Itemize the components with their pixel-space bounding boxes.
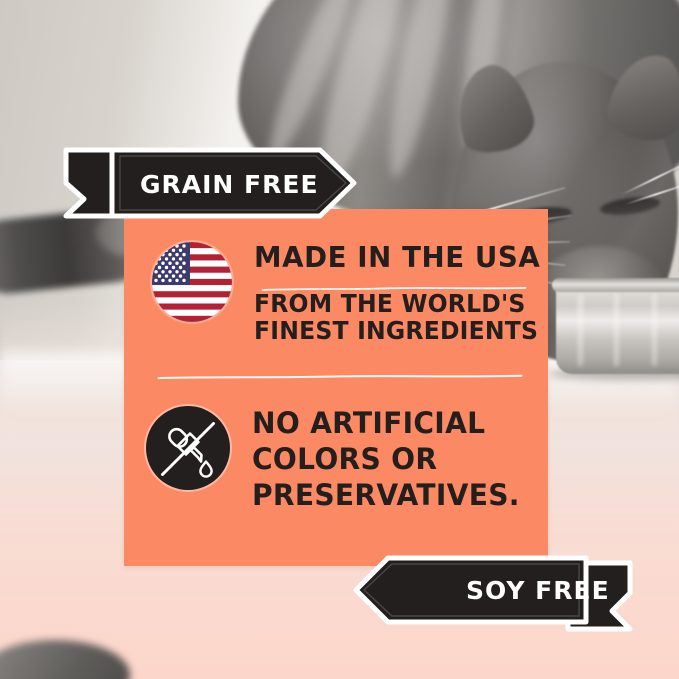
claim-line-2: COLORS OR <box>252 442 520 478</box>
claim-subline-1: FROM THE WORLD'S <box>254 290 538 318</box>
food-bowl <box>556 282 679 374</box>
no-dropper-icon <box>146 406 230 490</box>
bowl-highlight <box>614 294 619 366</box>
badge-grain-free-label: GRAIN FREE <box>140 172 319 197</box>
section-divider <box>158 375 522 379</box>
claim-no-artificial-text: NO ARTIFICIAL COLORS OR PRESERVATIVES. <box>252 406 528 514</box>
usa-flag-circle-icon <box>152 242 232 322</box>
bowl-highlight <box>578 294 583 366</box>
claim-made-in-usa-text: MADE IN THE USA FROM THE WORLD'S FINEST … <box>254 242 550 345</box>
claim-line-1: NO ARTIFICIAL <box>252 406 520 442</box>
claim-headline-made-in-usa: MADE IN THE USA <box>254 244 541 273</box>
bowl-highlight <box>652 294 657 366</box>
product-feature-graphic: MADE IN THE USA FROM THE WORLD'S FINEST … <box>0 0 679 679</box>
badge-grain-free[interactable]: GRAIN FREE <box>62 144 362 222</box>
claim-no-artificial: NO ARTIFICIAL COLORS OR PRESERVATIVES. <box>146 406 528 514</box>
bowl-rim <box>552 278 679 292</box>
claims-card: MADE IN THE USA FROM THE WORLD'S FINEST … <box>124 209 548 566</box>
claim-line-3: PRESERVATIVES. <box>252 478 520 514</box>
badge-soy-free-label: SOY FREE <box>466 578 610 603</box>
badge-soy-free[interactable]: SOY FREE <box>346 552 634 634</box>
claim-subline-2: FINEST INGREDIENTS <box>254 317 538 345</box>
claim-made-in-usa: MADE IN THE USA FROM THE WORLD'S FINEST … <box>152 242 550 345</box>
